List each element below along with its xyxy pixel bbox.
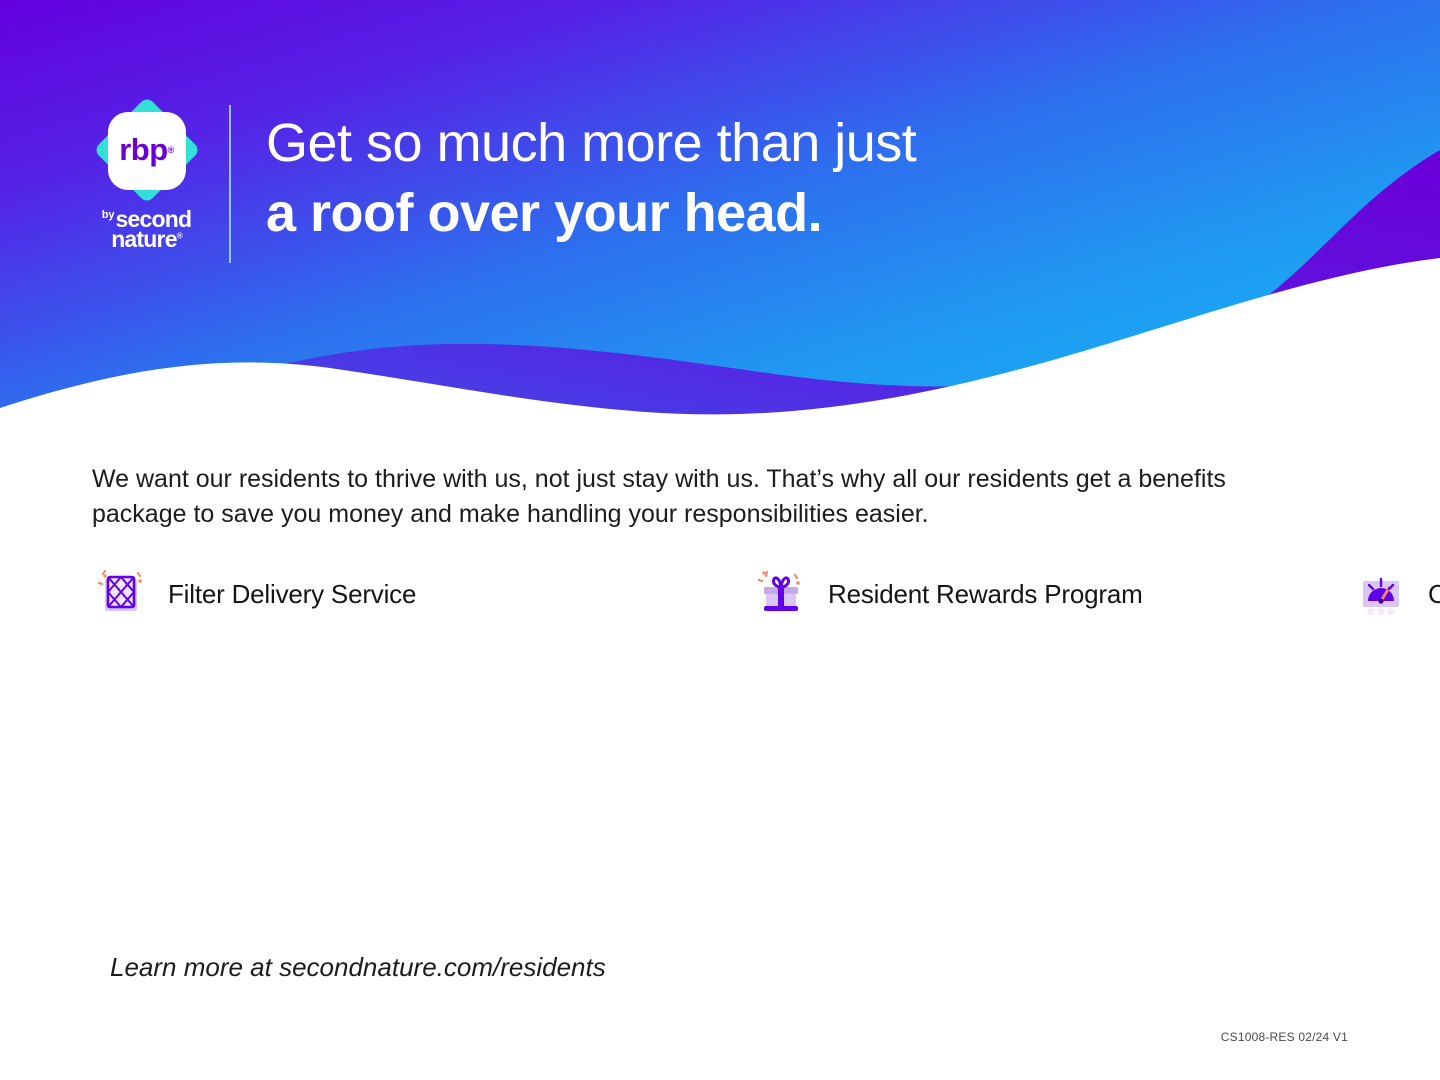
rbp-logo-mark: rbp® xyxy=(95,98,199,202)
benefit-item-filter-delivery-service: Filter Delivery Service xyxy=(92,556,752,632)
headline-line-1: Get so much more than just xyxy=(266,108,916,178)
logo-nature-text: nature xyxy=(111,226,177,252)
intro-paragraph: We want our residents to thrive with us,… xyxy=(92,462,1312,532)
hero-headline: Get so much more than just a roof over y… xyxy=(266,108,916,248)
benefit-label: Resident Rewards Program xyxy=(828,579,1143,610)
air-filter-icon xyxy=(92,565,150,623)
credit-gauge-icon xyxy=(1352,565,1410,623)
headline-line-2: a roof over your head. xyxy=(266,178,916,248)
gift-box-icon xyxy=(752,565,810,623)
benefit-item-resident-rewards-program: Resident Rewards Program xyxy=(752,556,1352,632)
logo-company-registered-mark: ® xyxy=(177,231,182,240)
logo-wordmark: rbp® xyxy=(95,98,199,202)
learn-more-text: Learn more at secondnature.com/residents xyxy=(110,952,606,983)
second-nature-wordmark: bysecond nature® xyxy=(84,208,209,251)
flyer-page: rbp® bysecond nature® Get so much more t… xyxy=(0,0,1440,1080)
rbp-logo-lockup: rbp® bysecond nature® xyxy=(84,98,209,263)
benefit-item-credit-building: Credit Building xyxy=(1352,556,1440,632)
benefit-label: Filter Delivery Service xyxy=(168,579,416,610)
header-divider xyxy=(229,105,231,263)
document-code: CS1008-RES 02/24 V1 xyxy=(1221,1030,1348,1044)
benefit-label: Credit Building xyxy=(1428,579,1440,610)
logo-registered-mark: ® xyxy=(168,145,174,155)
benefits-grid: Filter Delivery Service Resident Rewards… xyxy=(92,556,1352,632)
logo-by-word: by xyxy=(102,209,115,221)
logo-rbp-text: rbp xyxy=(119,132,167,168)
